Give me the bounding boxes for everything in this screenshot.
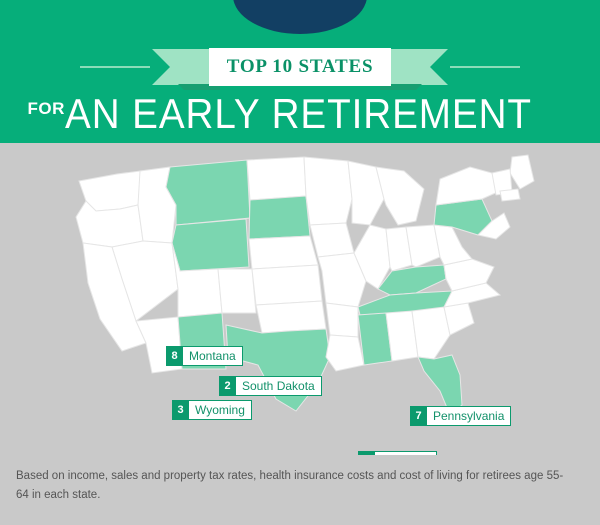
state-arkansas bbox=[326, 303, 358, 337]
map-label-pennsylvania[interactable]: 7 Pennsylvania bbox=[410, 406, 511, 426]
page-title-main: AN EARLY RETIREMENT bbox=[65, 90, 532, 138]
state-massachusetts bbox=[500, 189, 520, 201]
state-nebraska bbox=[249, 236, 318, 269]
state-label: Montana bbox=[183, 346, 243, 366]
page-title-prefix: FOR bbox=[28, 99, 65, 118]
page-title: FORAN EARLY RETIREMENT bbox=[0, 90, 600, 138]
state-iowa bbox=[310, 223, 354, 257]
state-kansas bbox=[252, 265, 322, 305]
state-oklahoma bbox=[256, 301, 326, 333]
ribbon: TOP 10 STATES bbox=[0, 48, 600, 86]
state-label: Wyoming bbox=[189, 400, 252, 420]
rank-badge: 2 bbox=[219, 376, 236, 396]
state-maine bbox=[510, 155, 534, 189]
state-minnesota bbox=[304, 157, 352, 225]
state-south-carolina bbox=[444, 303, 474, 335]
state-new-york bbox=[436, 167, 500, 205]
state-label: South Dakota bbox=[236, 376, 322, 396]
state-texas bbox=[226, 325, 330, 411]
map-label-south-dakota[interactable]: 2 South Dakota bbox=[219, 376, 322, 396]
banner-plate: TOP 10 STATES bbox=[209, 48, 391, 86]
state-georgia bbox=[412, 307, 450, 359]
ribbon-tail-left bbox=[152, 49, 210, 85]
rank-badge: 3 bbox=[172, 400, 189, 420]
state-colorado bbox=[218, 269, 256, 313]
map-label-wyoming[interactable]: 3 Wyoming bbox=[172, 400, 252, 420]
rank-badge: 7 bbox=[410, 406, 427, 426]
state-louisiana bbox=[326, 335, 364, 371]
banner-title: TOP 10 STATES bbox=[227, 56, 374, 78]
header-banner: smartasset™ TOP 10 STATES FORAN EARLY RE… bbox=[0, 0, 600, 143]
footer-note: Based on income, sales and property tax … bbox=[16, 467, 572, 505]
footer: Based on income, sales and property tax … bbox=[0, 455, 600, 525]
state-michigan bbox=[376, 167, 424, 225]
rule-right-divider bbox=[450, 66, 520, 68]
state-montana bbox=[166, 160, 250, 225]
us-map: 8 Montana 2 South Dakota 3 Wyoming 7 Pen… bbox=[0, 143, 600, 455]
state-south-dakota bbox=[249, 196, 310, 239]
infographic-root: smartasset™ TOP 10 STATES FORAN EARLY RE… bbox=[0, 0, 600, 525]
state-label: Pennsylvania bbox=[427, 406, 511, 426]
state-north-dakota bbox=[247, 157, 306, 200]
state-wyoming bbox=[172, 219, 249, 271]
logo-circle bbox=[233, 0, 367, 34]
ribbon-tail-right bbox=[390, 49, 448, 85]
map-label-montana[interactable]: 8 Montana bbox=[166, 346, 243, 366]
rule-left-divider bbox=[80, 66, 150, 68]
rank-badge: 8 bbox=[166, 346, 183, 366]
